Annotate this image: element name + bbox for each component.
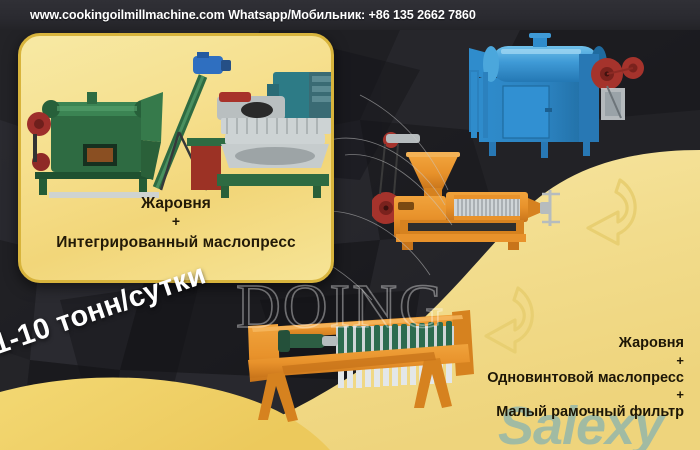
card-caption-plus: + — [21, 212, 331, 231]
flow-arrow-1-icon — [548, 172, 648, 252]
card-caption-line2: Интегрированный маслопресс — [21, 231, 331, 254]
card-caption-line1: Жаровня — [21, 196, 331, 212]
right-caption-block: Жаровня + Одновинтовой маслопресс + Малы… — [384, 336, 684, 421]
card-caption: Жаровня + Интегрированный маслопресс — [21, 196, 331, 254]
contact-header-bar: www.cookingoilmillmachine.com Whatsapp/М… — [0, 0, 700, 30]
banner-image: www.cookingoilmillmachine.com Whatsapp/М… — [0, 0, 700, 450]
right-caption-plus2: + — [384, 386, 684, 405]
contact-text: www.cookingoilmillmachine.com Whatsapp/М… — [0, 8, 476, 22]
product-card-roaster-press: Жаровня + Интегрированный маслопресс — [18, 33, 334, 283]
right-caption-line2: Одновинтовой маслопресс — [384, 371, 684, 387]
machine-screw-oil-press — [372, 132, 562, 252]
right-caption-line3: Малый рамочный фильтр — [384, 405, 684, 421]
right-caption-plus1: + — [384, 352, 684, 371]
right-caption-line1: Жаровня — [384, 336, 684, 352]
card-photo-roaster-integrated-press — [21, 40, 334, 205]
